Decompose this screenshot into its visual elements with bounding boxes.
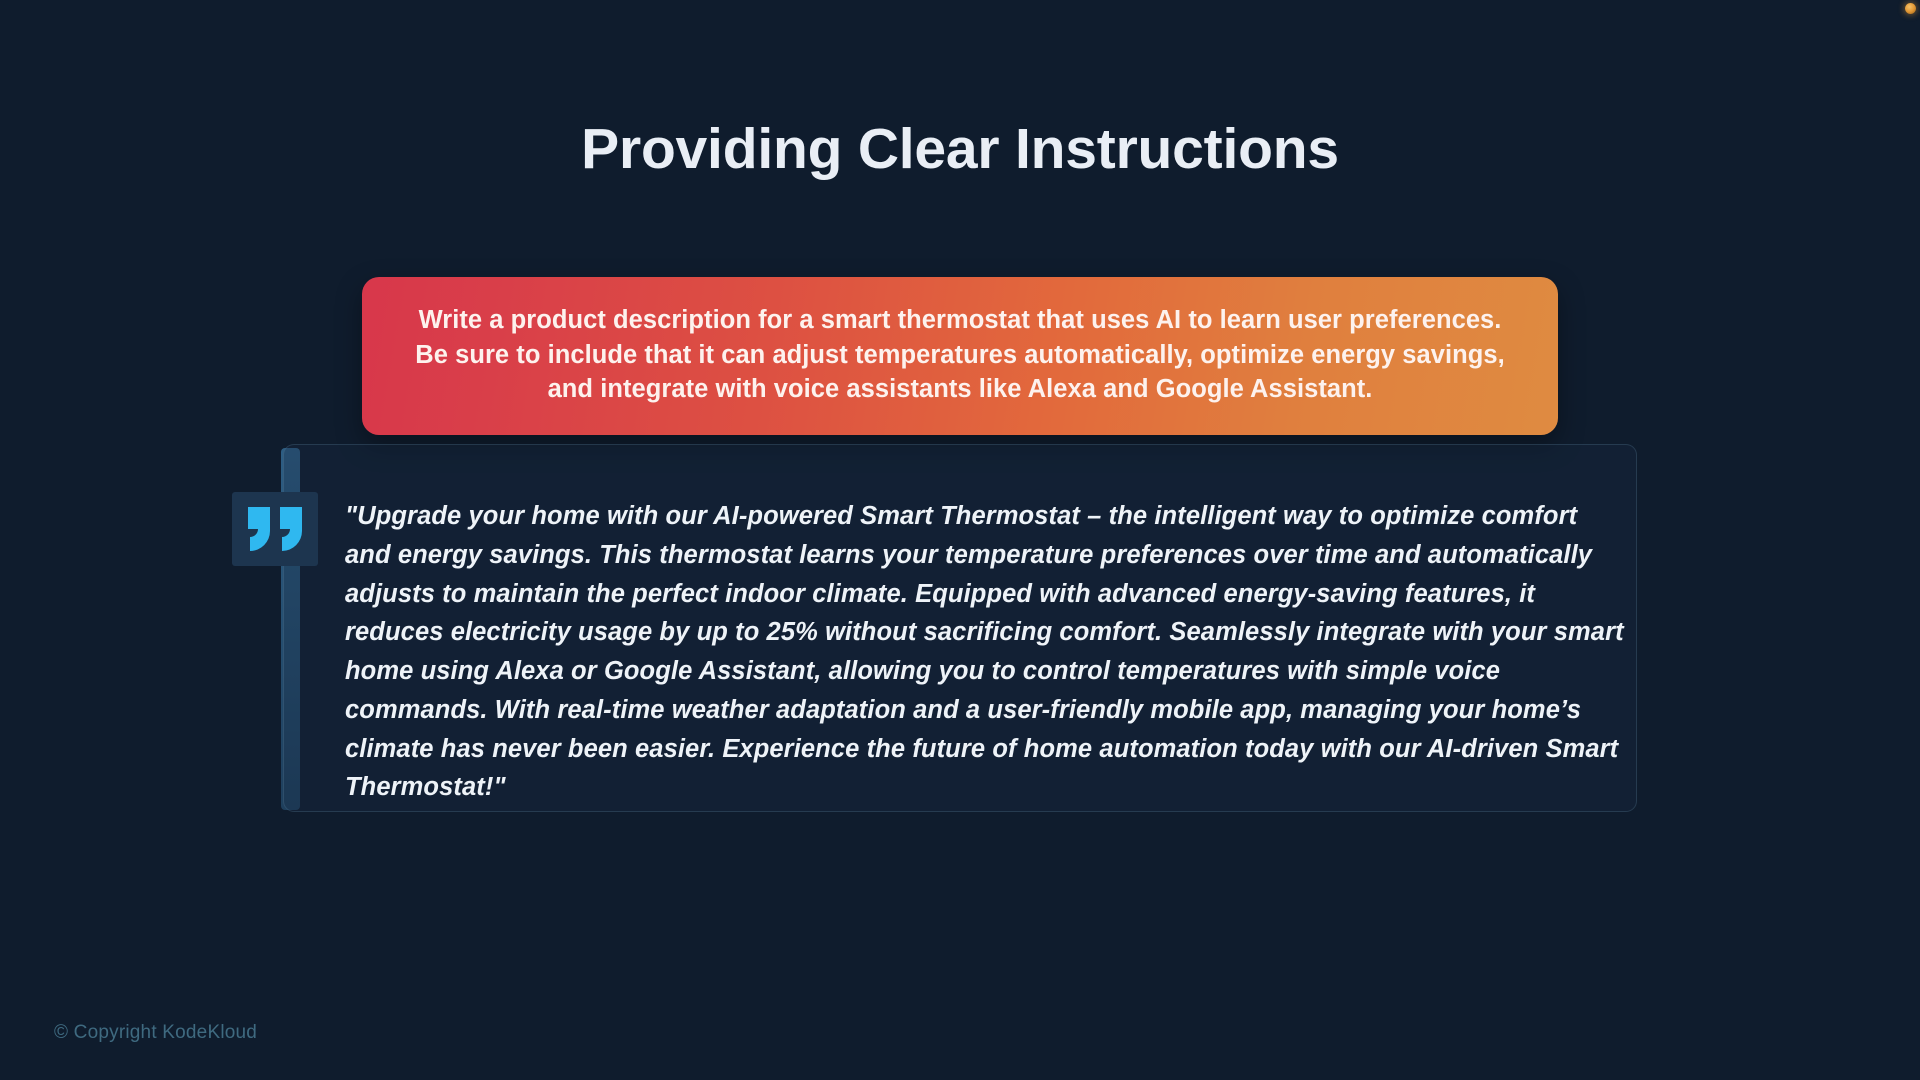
page-title: Providing Clear Instructions [0, 118, 1920, 181]
double-quote-icon [232, 492, 318, 566]
response-quote-text: "Upgrade your home with our AI-powered S… [345, 497, 1630, 807]
slide-root: Providing Clear Instructions Write a pro… [0, 0, 1920, 1080]
prompt-callout-text: Write a product description for a smart … [406, 303, 1514, 407]
amber-dot-icon [1905, 3, 1916, 14]
footer-copyright: © Copyright KodeKloud [54, 1022, 257, 1044]
prompt-callout-box: Write a product description for a smart … [362, 277, 1558, 435]
